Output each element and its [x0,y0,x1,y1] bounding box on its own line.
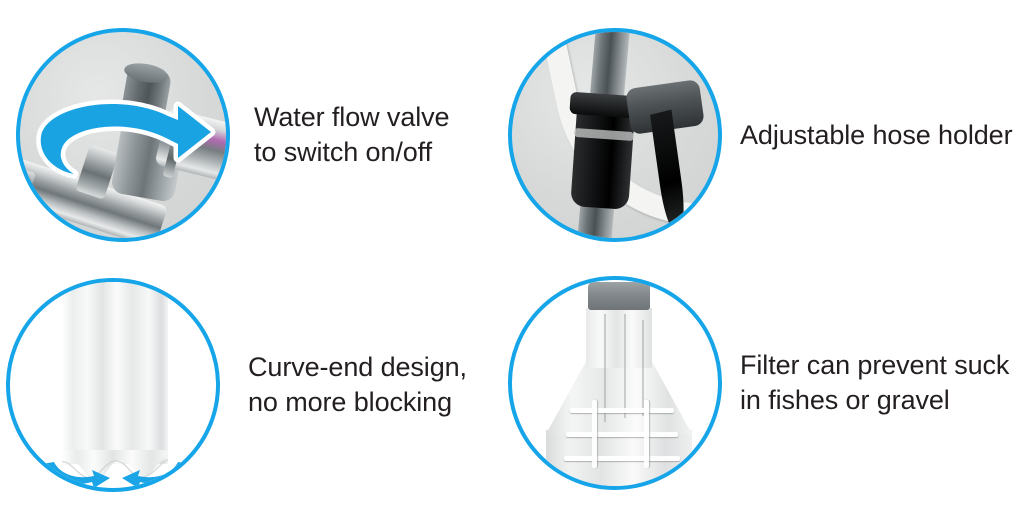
curve-end-photo-scene [10,282,216,488]
filter-grid-rib-2 [644,400,649,468]
feature-filter-gravel-guard: Filter can prevent suck in fishes or gra… [508,276,1009,490]
feature-caption-adjustable-hose-holder: Adjustable hose holder [740,118,1013,153]
filter-grid-bar-1 [570,408,674,413]
feature-photo-water-flow-valve [16,28,230,242]
guard-shoulder [546,360,692,434]
feature-photo-adjustable-hose-holder [508,28,722,242]
gravel-guard-photo-scene [512,280,718,486]
rotation-arrow-icon [28,88,218,198]
guard-seam-left [604,314,606,422]
guard-seam-mid [624,314,626,418]
feature-board: Water flow valve to switch on/off Adjust… [0,0,1024,512]
feature-curve-end-design: Curve-end design, no more blocking [6,278,467,492]
translucent-tube [62,278,168,464]
feature-caption-curve-end-design: Curve-end design, no more blocking [248,350,467,420]
filter-grid-bar-3 [564,456,680,461]
feature-photo-filter-gravel-guard [508,276,722,490]
inward-flow-arrows-icon [36,458,196,492]
feature-caption-water-flow-valve: Water flow valve to switch on/off [254,100,449,170]
feature-caption-filter-gravel-guard: Filter can prevent suck in fishes or gra… [740,348,1009,418]
hose-holder-photo-scene [512,32,718,238]
feature-photo-curve-end-design [6,278,220,492]
feature-adjustable-hose-holder: Adjustable hose holder [508,28,1013,242]
filter-grid-rib-1 [592,400,597,468]
guard-grey-cap [588,282,650,310]
feature-water-flow-valve: Water flow valve to switch on/off [16,28,449,242]
valve-photo-scene [20,32,226,238]
filter-grid-bar-2 [566,432,678,437]
